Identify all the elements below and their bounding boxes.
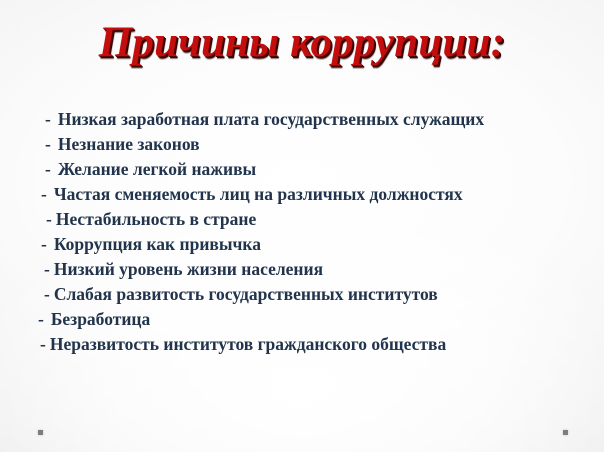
list-item-label: Неразвитость институтов гражданского общ…	[50, 332, 446, 357]
list-item-label: Коррупция как привычка	[54, 232, 261, 257]
list-item-label: Низкий уровень жизни населения	[54, 257, 323, 282]
list-item-label: Низкая заработная плата государственных …	[58, 107, 484, 132]
list-item: -Нестабильность в стране	[0, 207, 604, 232]
causes-list: -Низкая заработная плата государственных…	[0, 107, 604, 357]
decorative-dot-left	[38, 430, 43, 435]
bullet-dash-icon: -	[45, 107, 51, 132]
bullet-dash-icon: -	[45, 157, 51, 182]
list-item-label: Слабая развитость государственных инстит…	[54, 282, 438, 307]
slide-canvas: Причины коррупции: -Низкая заработная пл…	[0, 0, 604, 452]
list-item: -Низкий уровень жизни населения	[0, 257, 604, 282]
list-item-label: Незнание законов	[58, 132, 200, 157]
bullet-dash-icon: -	[38, 307, 44, 332]
list-item: -Безработица	[0, 307, 604, 332]
bullet-dash-icon: -	[40, 332, 46, 357]
list-item: -Незнание законов	[0, 132, 604, 157]
title-area: Причины коррупции:	[0, 17, 604, 69]
bullet-dash-icon: -	[46, 207, 52, 232]
bullet-dash-icon: -	[41, 182, 47, 207]
list-item-label: Безработица	[51, 307, 150, 332]
bullet-dash-icon: -	[44, 257, 50, 282]
list-item: -Низкая заработная плата государственных…	[0, 107, 604, 132]
list-item: -Слабая развитость государственных инсти…	[0, 282, 604, 307]
list-item: -Желание легкой наживы	[0, 157, 604, 182]
bullet-dash-icon: -	[44, 282, 50, 307]
bullet-dash-icon: -	[41, 232, 47, 257]
decorative-dot-right	[563, 430, 568, 435]
list-item-label: Нестабильность в стране	[56, 207, 256, 232]
list-item: -Коррупция как привычка	[0, 232, 604, 257]
list-item-label: Желание легкой наживы	[58, 157, 256, 182]
list-item: -Частая сменяемость лиц на различных дол…	[0, 182, 604, 207]
bullet-dash-icon: -	[45, 132, 51, 157]
page-title: Причины коррупции:	[99, 17, 506, 69]
list-item-label: Частая сменяемость лиц на различных долж…	[54, 182, 463, 207]
list-item: -Неразвитость институтов гражданского об…	[0, 332, 604, 357]
